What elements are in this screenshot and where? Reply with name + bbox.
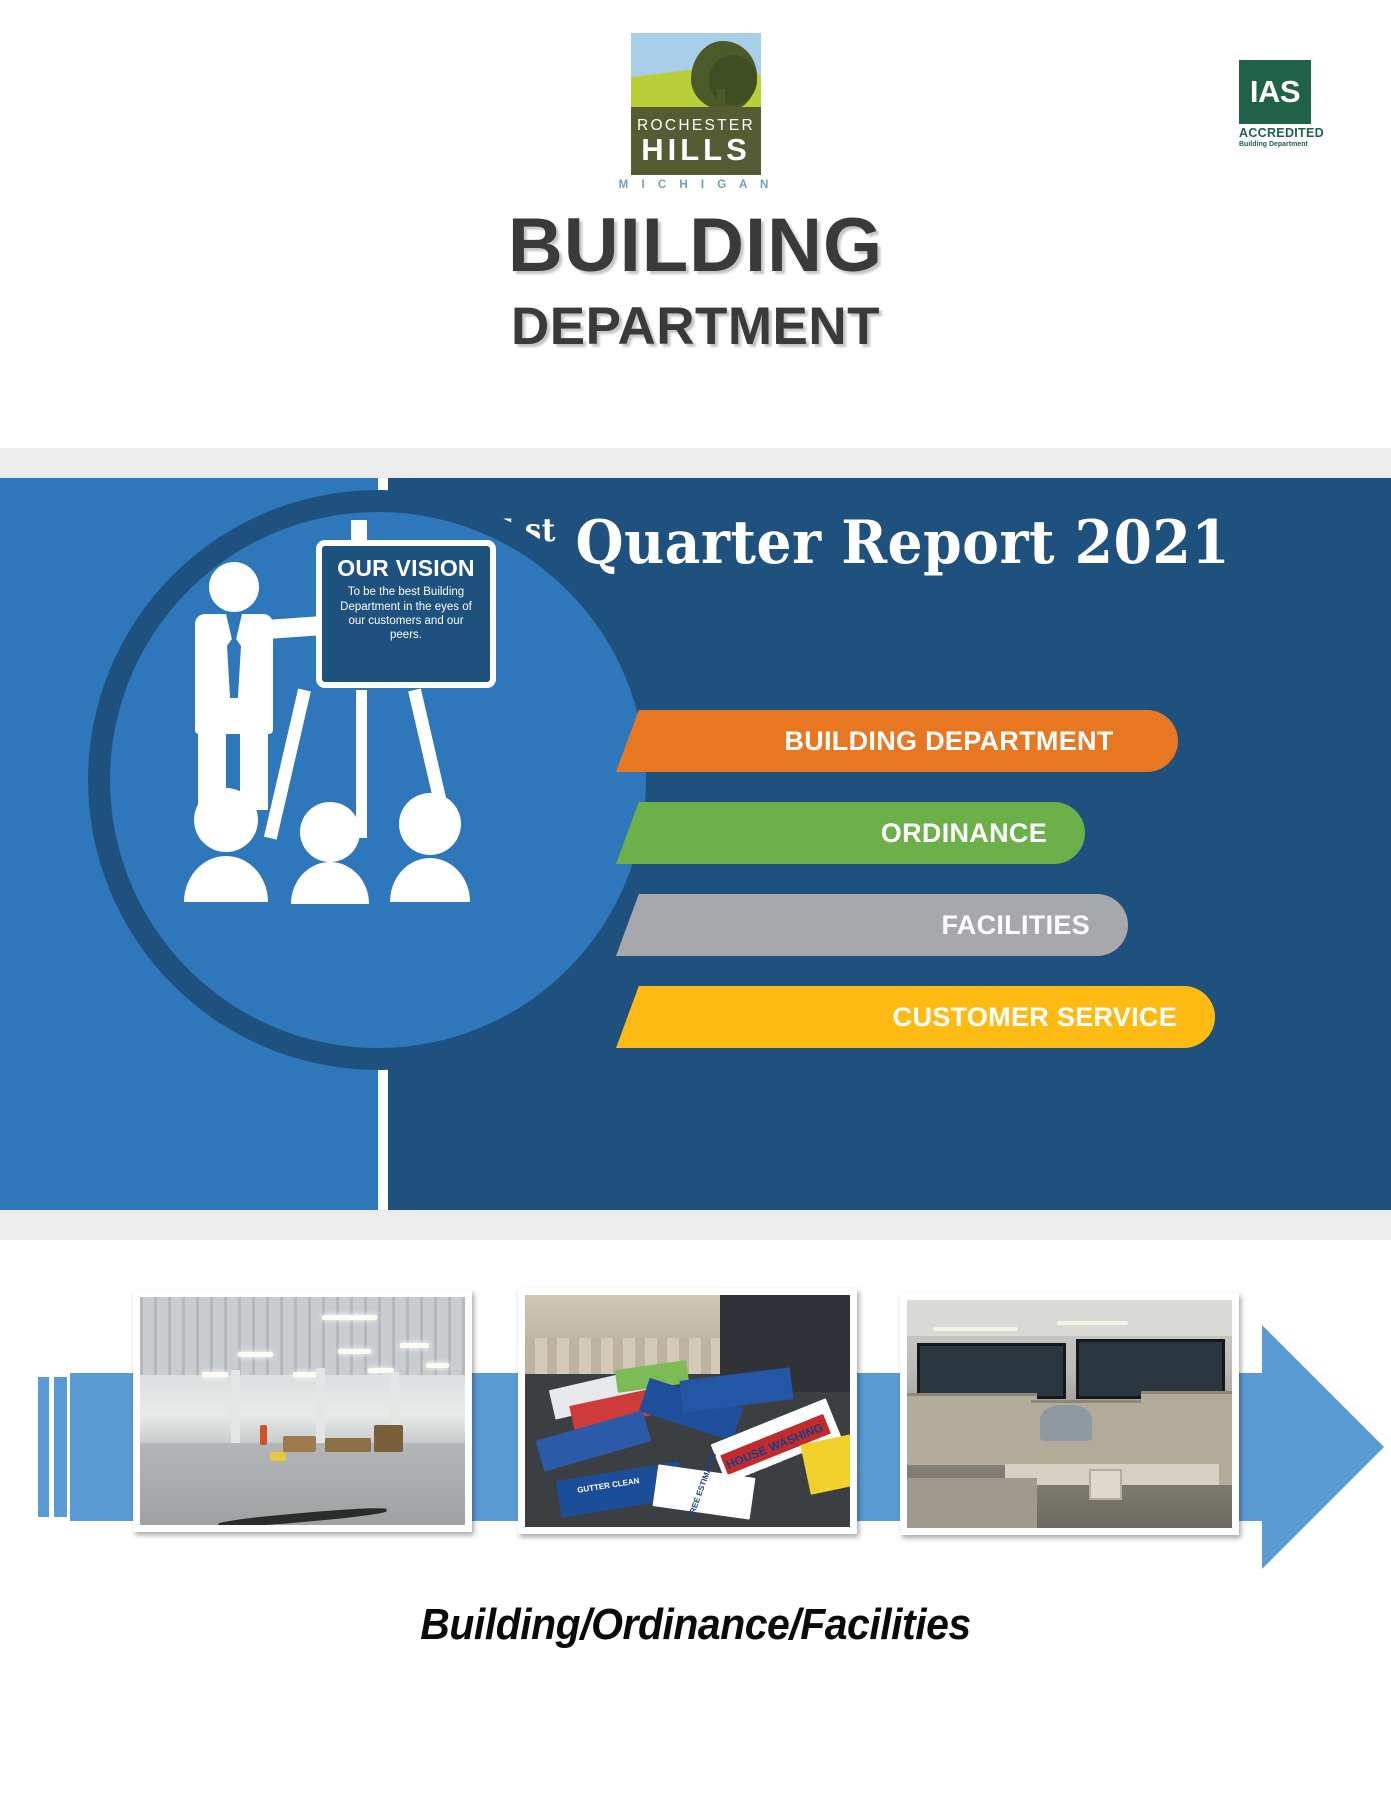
arrow-head-icon: [1262, 1325, 1384, 1569]
ias-mark-box: IAS: [1239, 60, 1311, 124]
photo-warehouse-interior: [133, 1290, 472, 1532]
ias-accredited-label: ACCREDITED: [1239, 126, 1317, 140]
vision-title: OUR VISION: [332, 556, 480, 580]
easel-leg-right-icon: [408, 689, 455, 840]
category-banner-label: FACILITIES: [941, 910, 1090, 941]
ias-accredited-logo: IAS ACCREDITED Building Department: [1239, 60, 1317, 154]
page-header: ROCHESTER HILLS M I C H I G A N IAS ACCR…: [0, 0, 1391, 448]
category-banner-label: CUSTOMER SERVICE: [893, 1002, 1177, 1033]
page-title-department: DEPARTMENT: [0, 300, 1391, 353]
office-worker: [1040, 1405, 1092, 1441]
presenter-leg-left-icon: [198, 728, 226, 810]
report-title-rest: Quarter Report 2021: [576, 508, 1231, 578]
rochester-hills-logo: ROCHESTER HILLS M I C H I G A N: [616, 33, 776, 198]
logo-michigan-text: M I C H I G A N: [616, 179, 776, 191]
page-title-building: BUILDING: [0, 208, 1391, 284]
logo-hills-text: HILLS: [641, 135, 751, 164]
arrow-tick-2: [54, 1377, 67, 1517]
category-banner-building-department[interactable]: BUILDING DEPARTMENT: [660, 710, 1178, 772]
presenter-leg-right-icon: [240, 728, 268, 810]
category-banner-facilities[interactable]: FACILITIES: [660, 894, 1128, 956]
photo-office-cubicles: [900, 1293, 1239, 1535]
office-window-left: [917, 1343, 1066, 1399]
vision-text: To be the best Building Department in th…: [332, 585, 480, 643]
vision-statement-sign: OUR VISION To be the best Building Depar…: [316, 540, 496, 688]
category-banner-label: ORDINANCE: [881, 818, 1047, 849]
easel-leg-center-icon: [356, 690, 367, 838]
warehouse-ceiling: [140, 1297, 465, 1375]
photo-signs-image: HOUSE WASHING 248-657-2032 FREE ESTIMATE…: [525, 1295, 850, 1527]
category-banner-ordinance[interactable]: ORDINANCE: [660, 802, 1085, 864]
divider-band-bottom: [0, 1210, 1391, 1240]
arrow-tick-1: [38, 1377, 49, 1517]
ias-mark-text: IAS: [1250, 74, 1300, 110]
photo-strip-caption: Building/Ordinance/Facilities: [49, 1600, 1343, 1650]
presenter-head-icon: [209, 562, 259, 612]
logo-rochester-text: ROCHESTER: [637, 118, 755, 134]
logo-wordmark: ROCHESTER HILLS: [631, 107, 761, 175]
office-panel: [1089, 1469, 1122, 1500]
photo-confiscated-yard-signs: HOUSE WASHING 248-657-2032 FREE ESTIMATE…: [518, 1288, 857, 1534]
category-banner-label: BUILDING DEPARTMENT: [784, 726, 1113, 757]
ias-department-label: Building Department: [1239, 141, 1317, 148]
divider-band-top: [0, 448, 1391, 478]
photo-office-image: [907, 1300, 1232, 1528]
photo-warehouse-image: [140, 1297, 465, 1525]
category-banner-customer-service[interactable]: CUSTOMER SERVICE: [660, 986, 1215, 1048]
presenter-illustration: OUR VISION To be the best Building Depar…: [88, 490, 668, 1070]
